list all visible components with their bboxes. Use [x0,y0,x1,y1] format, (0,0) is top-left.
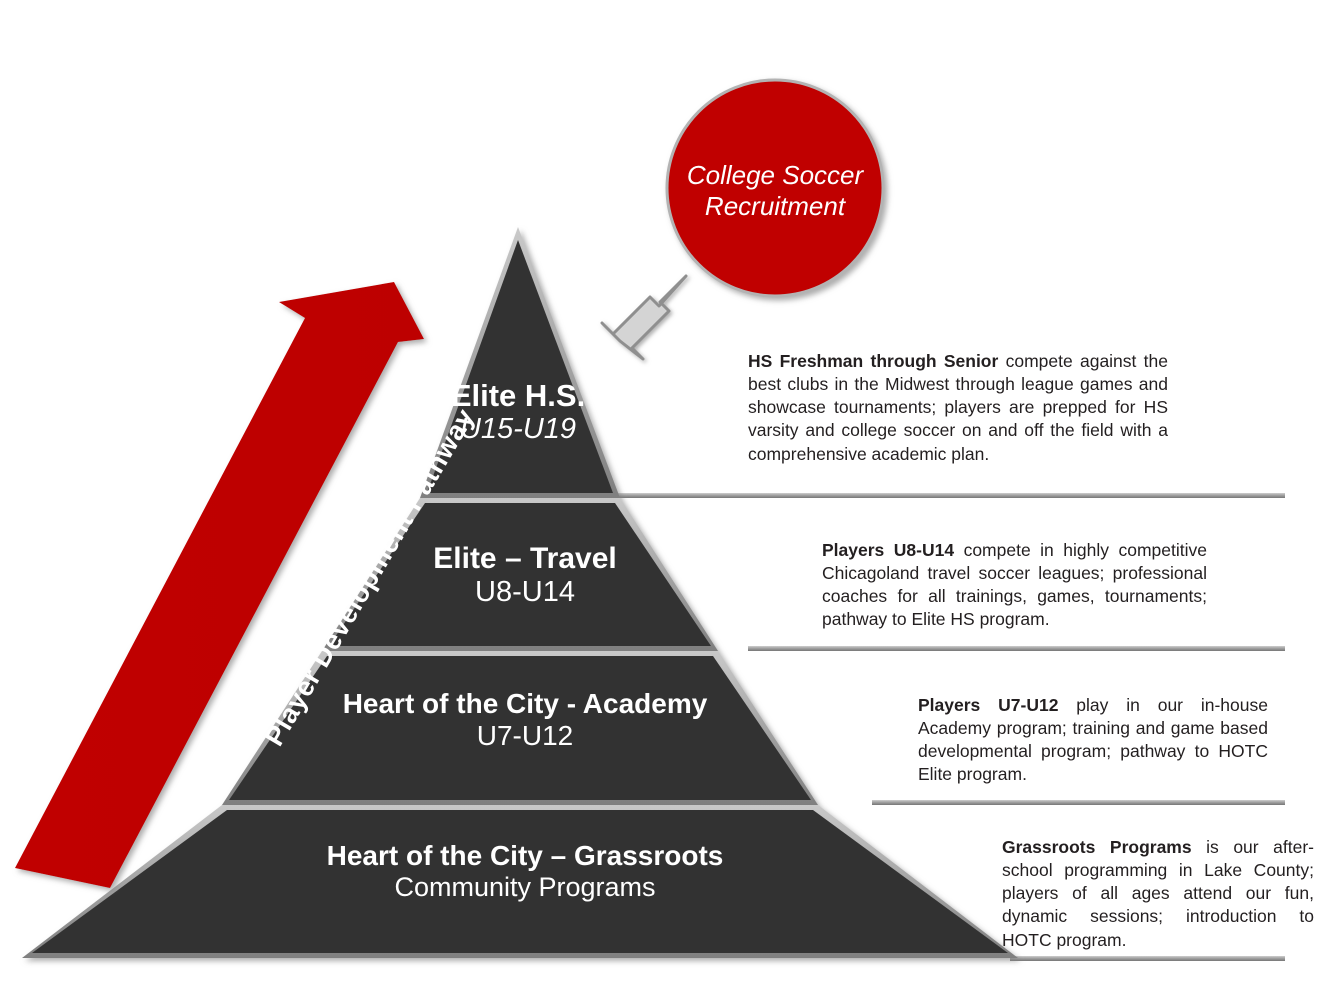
pyramid-tier-hotc-academy[interactable] [222,651,818,805]
divider-line-4 [1010,956,1285,961]
divider-line-2 [748,646,1285,651]
college-recruitment-circle[interactable] [667,80,883,296]
pyramid-tier-elite-hs[interactable] [420,227,620,498]
divider-line-1 [612,493,1285,498]
divider-line-3 [872,800,1285,805]
diagram-canvas: Player Development Pathway College Socce… [0,0,1333,1000]
tier-description-elite-hs: HS Freshman through Senior compete again… [748,350,1168,466]
tier-description-hotc-grassroots: Grassroots Programs is our after-school … [1002,836,1314,952]
callout-arrow-icon [602,276,686,359]
tier-description-lead-hotc-academy: Players U7-U12 [918,695,1058,715]
pyramid-tier-elite-travel[interactable] [322,498,718,651]
tier-description-hotc-academy: Players U7-U12 play in our in-house Acad… [918,694,1268,787]
pyramid-tier-hotc-grassroots[interactable] [22,805,1018,958]
tier-description-elite-travel: Players U8-U14 compete in highly competi… [822,539,1207,632]
tier-description-lead-hotc-grassroots: Grassroots Programs [1002,837,1192,857]
tier-description-lead-elite-hs: HS Freshman through Senior [748,351,998,371]
tier-description-lead-elite-travel: Players U8-U14 [822,540,954,560]
